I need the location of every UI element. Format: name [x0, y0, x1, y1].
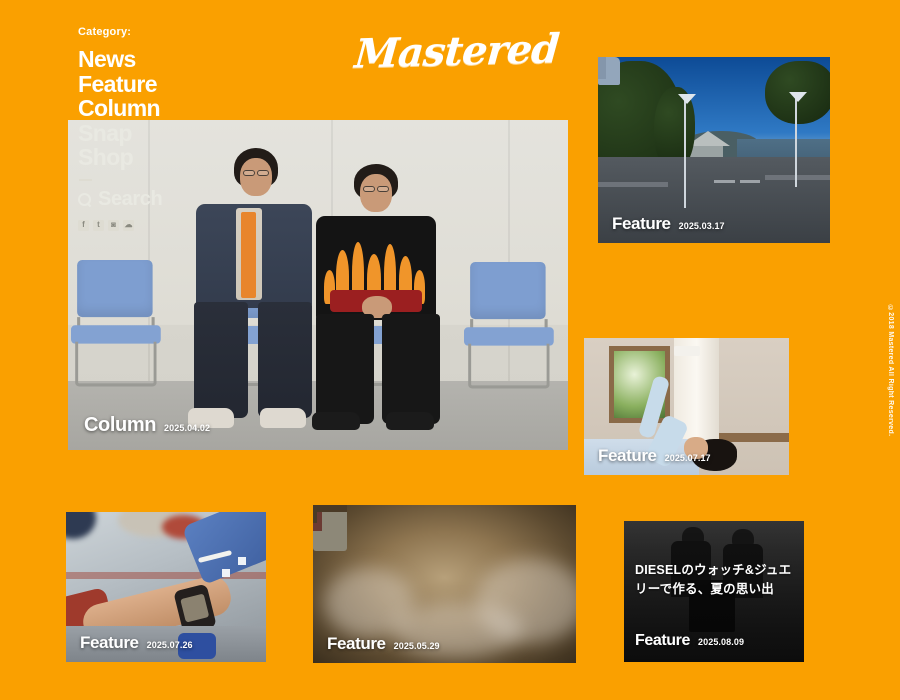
nav-item-news[interactable]: News — [78, 47, 268, 72]
street-category: Feature — [612, 214, 671, 234]
window-category: Feature — [598, 446, 657, 466]
street-caption: Feature 2025.03.17 — [598, 214, 830, 243]
site-logo[interactable]: Mastered — [353, 26, 547, 79]
page-root: Mastered Category: News Feature Column S… — [0, 0, 900, 700]
article-card-feature-street[interactable]: Feature 2025.03.17 — [598, 57, 830, 243]
search-button[interactable]: Search — [78, 188, 268, 211]
window-caption: Feature 2025.07.17 — [584, 446, 789, 475]
nav-item-feature[interactable]: Feature — [78, 72, 268, 97]
nav-item-shop[interactable]: Shop — [78, 145, 268, 170]
fog-category: Feature — [327, 634, 386, 654]
diesel-title: DIESELのウォッチ&ジュエリーで作る、夏の思い出 — [635, 561, 793, 599]
instagram-icon[interactable]: ◙ — [108, 220, 119, 231]
watch-date: 2025.07.26 — [147, 640, 193, 650]
fog-caption: Feature 2025.05.29 — [313, 634, 576, 663]
search-label: Search — [98, 188, 162, 211]
article-card-feature-window[interactable]: Feature 2025.07.17 — [584, 338, 789, 475]
facebook-icon[interactable]: f — [78, 220, 89, 231]
hero-caption: Column 2025.04.02 — [68, 414, 568, 450]
hero-date: 2025.04.02 — [164, 423, 210, 433]
social-links: f t ◙ ☁ — [78, 220, 268, 231]
twitter-icon[interactable]: t — [93, 220, 104, 231]
diesel-category: Feature — [635, 632, 690, 650]
window-date: 2025.07.17 — [665, 453, 711, 463]
fog-date: 2025.05.29 — [394, 641, 440, 651]
watch-category: Feature — [80, 633, 139, 653]
nav-category-label: Category: — [78, 26, 268, 38]
hero-category: Column — [84, 414, 156, 437]
soundcloud-icon[interactable]: ☁ — [123, 220, 134, 231]
nav-item-column[interactable]: Column — [78, 96, 268, 121]
main-navigation: Category: News Feature Column Snap Shop … — [78, 26, 268, 231]
article-card-feature-watch[interactable]: Feature 2025.07.26 — [66, 512, 266, 662]
article-card-feature-fog[interactable]: Feature 2025.05.29 — [313, 505, 576, 663]
nav-divider — [79, 179, 92, 181]
article-card-feature-diesel[interactable]: DIESELのウォッチ&ジュエリーで作る、夏の思い出 Feature 2025.… — [624, 521, 804, 662]
copyright-text: ©2018 Mastered All Right Reserved. — [887, 305, 894, 436]
diesel-date: 2025.08.09 — [698, 637, 744, 647]
street-date: 2025.03.17 — [679, 221, 725, 231]
diesel-caption: Feature 2025.08.09 — [624, 632, 804, 662]
search-icon — [78, 193, 92, 207]
watch-caption: Feature 2025.07.26 — [66, 633, 266, 662]
nav-item-snap[interactable]: Snap — [78, 121, 268, 146]
